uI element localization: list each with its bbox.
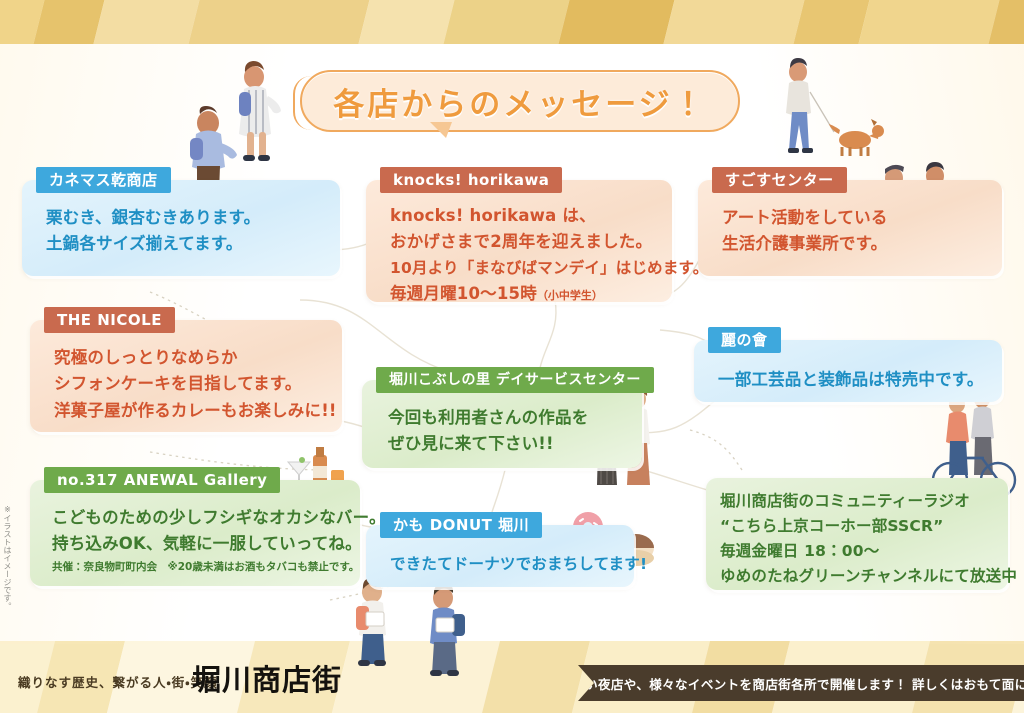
message-card-kanemasu[interactable]: カネマス乾商店 栗むき、銀杏むきあります。 土鍋各サイズ揃えてます。	[22, 180, 340, 276]
message-card-kamo-donut[interactable]: かも DONUT 堀川 できたてドーナツでおまちしてます!	[366, 525, 634, 587]
card-line: こどものための少しフシギなオカシなバー。	[52, 506, 342, 529]
schedule-note: （小中学生）	[537, 289, 603, 302]
page-title-text: 各店からのメッセージ！	[300, 70, 740, 132]
page-title: 各店からのメッセージ！	[300, 70, 740, 132]
card-body-anewal-gallery: こどものための少しフシギなオカシなバー。 持ち込みOK、気軽に一服していってね。…	[30, 480, 360, 592]
card-body-horikawa-kobushi: 今回も利用者さんの作品を ぜひ見に来て下さい!!	[362, 380, 642, 473]
card-body-community-radio: 堀川商店街のコミュニティーラジオ “こちら上京コーホー部SSCR” 毎週金曜日 …	[706, 478, 1008, 600]
message-card-sugosu-center[interactable]: すごすセンター アート活動をしている 生活介護事業所です。	[698, 180, 1002, 276]
card-line: “こちら上京コーホー部SSCR”	[720, 515, 994, 537]
card-fine-print: 共催：奈良物町町内会 ※20歳未満はお酒もタバコも禁止です。	[52, 560, 342, 575]
card-body-kanemasu: 栗むき、銀杏むきあります。 土鍋各サイズ揃えてます。	[22, 180, 340, 273]
card-line: 生活介護事業所です。	[722, 232, 984, 255]
footer-tagline: 織りなす歴史、繋がる人・街・笑顔	[18, 672, 218, 691]
card-label-urara-no-kai: 麗の會	[708, 327, 781, 353]
card-line: 10月より「まなびばマンデイ」はじめます。	[390, 257, 654, 279]
footer-banner[interactable]: 楽しい夜店や、様々なイベントを商店街各所で開催します！ 詳しくはおもて面にて ≫	[578, 665, 1024, 701]
card-body-knocks-horikawa: knocks! horikawa は、 おかげさまで2周年を迎えました。 10月…	[366, 180, 672, 322]
illustration-woman-dog	[786, 58, 884, 156]
card-line: 土鍋各サイズ揃えてます。	[46, 232, 322, 255]
card-line: 究極のしっとりなめらか	[54, 346, 324, 369]
card-line-schedule: 毎週月曜10〜15時（小中学生）	[390, 282, 654, 305]
illustration-school-kids	[356, 578, 465, 676]
card-line: おかげさまで2周年を迎えました。	[390, 230, 654, 253]
card-line: 一部工芸品と装飾品は特売中です。	[718, 368, 984, 391]
flyer-canvas: 各店からのメッセージ！ カネマス乾商店 栗むき、銀杏むきあります。 土鍋各サイズ…	[0, 0, 1024, 713]
card-label-horikawa-kobushi: 堀川こぶしの里 デイサービスセンター	[376, 367, 654, 393]
schedule-main: 毎週月曜10〜15時	[390, 284, 537, 303]
card-label-the-nicole: THE NICOLE	[44, 307, 175, 333]
footer-banner-text: 楽しい夜店や、様々なイベントを商店街各所で開催します！ 詳しくはおもて面にて ≫	[543, 674, 1024, 693]
card-line: 堀川商店街のコミュニティーラジオ	[720, 490, 994, 512]
card-label-sugosu-center: すごすセンター	[712, 167, 847, 193]
card-line: 持ち込みOK、気軽に一服していってね。	[52, 532, 342, 555]
title-tail	[430, 122, 452, 138]
card-label-knocks-horikawa: knocks! horikawa	[380, 167, 562, 193]
illustration-disclaimer: ※イラストはイメージです。	[2, 505, 13, 610]
brand-logo: 堀川商店街	[192, 655, 342, 700]
message-card-horikawa-kobushi[interactable]: 堀川こぶしの里 デイサービスセンター 今回も利用者さんの作品を ぜひ見に来て下さ…	[362, 380, 642, 468]
dog-icon	[829, 119, 884, 156]
card-label-anewal-gallery: no.317 ANEWAL Gallery	[44, 467, 280, 493]
card-label-kamo-donut: かも DONUT 堀川	[380, 512, 542, 538]
card-line: 今回も利用者さんの作品を	[388, 406, 624, 429]
card-line: シフォンケーキを目指してます。	[54, 372, 324, 395]
message-card-anewal-gallery[interactable]: no.317 ANEWAL Gallery こどものための少しフシギなオカシなバ…	[30, 480, 360, 586]
illustration-girl-stripes	[239, 61, 281, 161]
card-label-kanemasu: カネマス乾商店	[36, 167, 171, 193]
message-card-knocks-horikawa[interactable]: knocks! horikawa knocks! horikawa は、 おかげ…	[366, 180, 672, 302]
card-line: できたてドーナツでおまちしてます!	[390, 553, 616, 575]
message-card-community-radio[interactable]: 堀川商店街のコミュニティーラジオ “こちら上京コーホー部SSCR” 毎週金曜日 …	[706, 478, 1008, 590]
card-line: 栗むき、銀杏むきあります。	[46, 206, 322, 229]
card-body-sugosu-center: アート活動をしている 生活介護事業所です。	[698, 180, 1002, 273]
card-line: アート活動をしている	[722, 206, 984, 229]
card-line: ゆめのたねグリーンチャンネルにて放送中	[720, 565, 994, 587]
message-card-urara-no-kai[interactable]: 麗の會 一部工芸品と装飾品は特売中です。	[694, 340, 1002, 402]
card-line: 毎週金曜日 18：00〜	[720, 540, 994, 562]
card-line: knocks! horikawa は、	[390, 204, 654, 227]
message-card-the-nicole[interactable]: THE NICOLE 究極のしっとりなめらか シフォンケーキを目指してます。 洋…	[30, 320, 342, 432]
card-body-the-nicole: 究極のしっとりなめらか シフォンケーキを目指してます。 洋菓子屋が作るカレーもお…	[30, 320, 342, 439]
card-line: 洋菓子屋が作るカレーもお楽しみに!!	[54, 399, 324, 422]
card-line: ぜひ見に来て下さい!!	[388, 432, 624, 455]
